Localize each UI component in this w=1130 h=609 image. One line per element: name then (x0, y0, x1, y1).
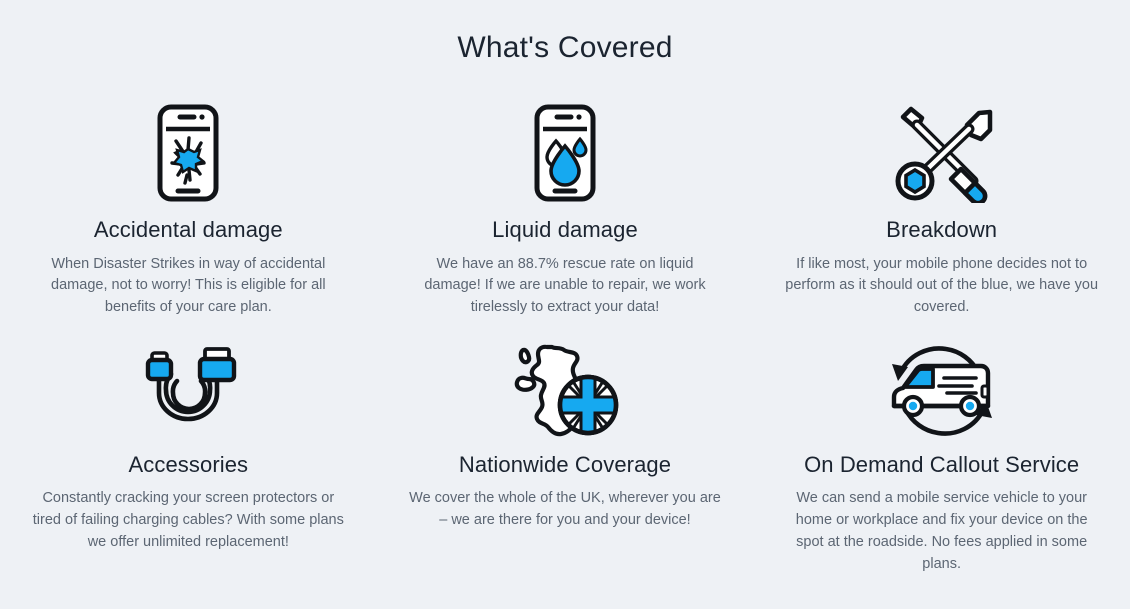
cracked-phone-screen-icon (156, 102, 220, 204)
card-body: We can send a mobile service vehicle to … (784, 488, 1099, 575)
charging-cable-icon (129, 341, 247, 441)
coverage-card-accidental-damage: Accidental damage When Disaster Strikes … (0, 102, 377, 319)
coverage-card-nationwide-coverage: Nationwide Coverage We cover the whole o… (377, 341, 754, 576)
coverage-card-breakdown: Breakdown If like most, your mobile phon… (753, 102, 1130, 319)
card-title: Nationwide Coverage (459, 451, 671, 479)
phone-water-droplet-icon (533, 102, 597, 204)
wrench-screwdriver-icon (891, 102, 993, 204)
coverage-card-liquid-damage: Liquid damage We have an 88.7% rescue ra… (377, 102, 754, 319)
page-title: What's Covered (0, 0, 1130, 66)
card-body: We cover the whole of the UK, wherever y… (407, 488, 722, 532)
card-title: Liquid damage (492, 216, 638, 244)
card-title: Accidental damage (94, 216, 283, 244)
card-body: We have an 88.7% rescue rate on liquid d… (407, 254, 722, 319)
card-title: On Demand Callout Service (804, 451, 1079, 479)
coverage-card-on-demand-callout: On Demand Callout Service We can send a … (753, 341, 1130, 576)
service-van-refresh-icon (884, 341, 1000, 441)
card-title: Breakdown (886, 216, 997, 244)
card-body: Constantly cracking your screen protecto… (31, 488, 346, 553)
coverage-card-accessories: Accessories Constantly cracking your scr… (0, 341, 377, 576)
card-body: When Disaster Strikes in way of accident… (31, 254, 346, 319)
uk-map-flag-icon (511, 341, 619, 441)
coverage-card-grid: Accidental damage When Disaster Strikes … (0, 102, 1130, 575)
card-title: Accessories (128, 451, 248, 479)
card-body: If like most, your mobile phone decides … (784, 254, 1099, 319)
whats-covered-section: What's Covered (0, 0, 1130, 609)
